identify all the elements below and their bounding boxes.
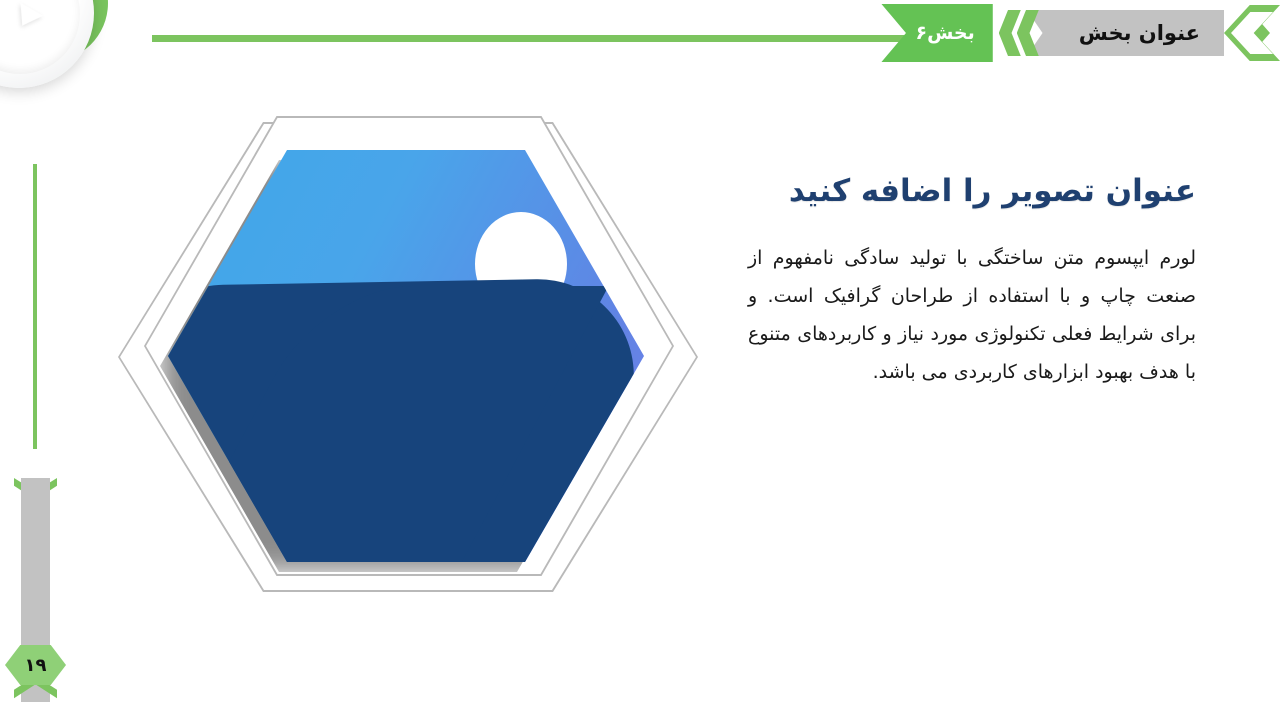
chevron-right-outline-icon xyxy=(1224,5,1280,61)
slide-canvas: بخش ۶ عنوان بخش بخش۶ ۱۹ xyxy=(0,0,1280,720)
accent-hexagon-cyan xyxy=(1024,500,1100,562)
section-title-text: عنوان بخش xyxy=(1079,21,1200,45)
content-title: عنوان تصویر را اضافه کنید xyxy=(748,172,1196,211)
accent-hexagon-green xyxy=(928,500,1004,562)
header-banner: عنوان بخش بخش۶ xyxy=(881,4,1280,62)
chevron-right-fill-icon xyxy=(1240,18,1270,48)
chevron-left-icon-1 xyxy=(1017,10,1039,56)
header-rule-line xyxy=(152,35,932,42)
accent-hexagon-navy xyxy=(1120,500,1196,562)
section-number-text: بخش۶ xyxy=(915,22,974,44)
chevron-left-double-icon xyxy=(993,10,1039,56)
page-number-text: ۱۹ xyxy=(25,655,47,676)
accent-hexagon-row xyxy=(928,500,1196,562)
content-column: عنوان تصویر را اضافه کنید لورم ایپسوم مت… xyxy=(748,172,1196,391)
section-number-tag: بخش۶ xyxy=(881,4,992,62)
rail-vertical-line xyxy=(33,164,37,449)
section-title-plate: عنوان بخش xyxy=(1027,10,1224,56)
page-number-badge: ۱۹ xyxy=(5,645,66,685)
content-body-text: لورم ایپسوم متن ساختگی با تولید سادگی نا… xyxy=(748,239,1196,391)
image-placeholder-hexagon[interactable] xyxy=(112,112,704,594)
